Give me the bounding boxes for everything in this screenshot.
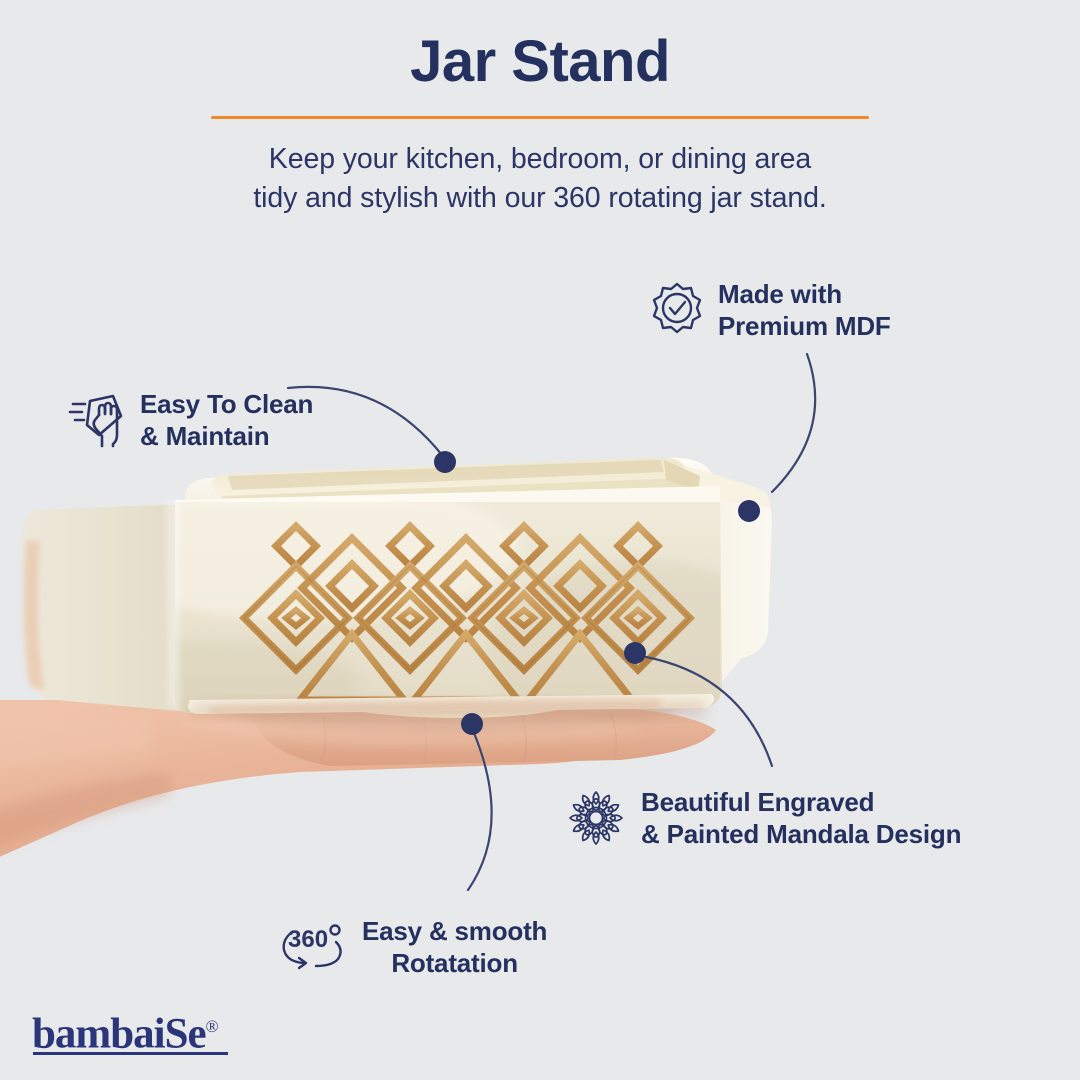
360-degree-rotation-icon: 360 (278, 918, 350, 976)
subtitle-line-2: tidy and stylish with our 360 rotating j… (0, 179, 1080, 218)
subtitle-line-1: Keep your kitchen, bedroom, or dining ar… (0, 140, 1080, 179)
feature-label-smooth-rotation: Easy & smoothRotatation (362, 915, 547, 979)
product-photo (0, 400, 1080, 960)
title-divider (211, 116, 869, 119)
feature-label-mandala-design: Beautiful Engraved& Painted Mandala Desi… (641, 786, 961, 850)
feature-premium-mdf: Made withPremium MDF (648, 278, 891, 342)
brand-logo-underline (33, 1052, 228, 1055)
feature-smooth-rotation: 360 Easy & smoothRotatation (278, 915, 547, 979)
registered-trademark-icon: ® (206, 1017, 218, 1036)
jar-stand-box (22, 458, 790, 740)
brand-logo-text: bambaiSe (32, 1010, 206, 1057)
svg-text:360: 360 (288, 926, 328, 953)
hand-wiping-cloth-icon (66, 391, 128, 449)
page-title: Jar Stand (0, 28, 1080, 95)
infographic-canvas: Jar Stand Keep your kitchen, bedroom, or… (0, 0, 1080, 1080)
mandala-flower-icon (563, 785, 629, 851)
feature-mandala-design: Beautiful Engraved& Painted Mandala Desi… (563, 785, 961, 851)
brand-logo: bambaiSe® (32, 1004, 218, 1057)
page-subtitle: Keep your kitchen, bedroom, or dining ar… (0, 140, 1080, 218)
feature-label-easy-to-clean: Easy To Clean& Maintain (140, 388, 313, 452)
feature-label-premium-mdf: Made withPremium MDF (718, 278, 891, 342)
quality-badge-check-icon (648, 281, 706, 339)
feature-easy-to-clean: Easy To Clean& Maintain (66, 388, 313, 452)
